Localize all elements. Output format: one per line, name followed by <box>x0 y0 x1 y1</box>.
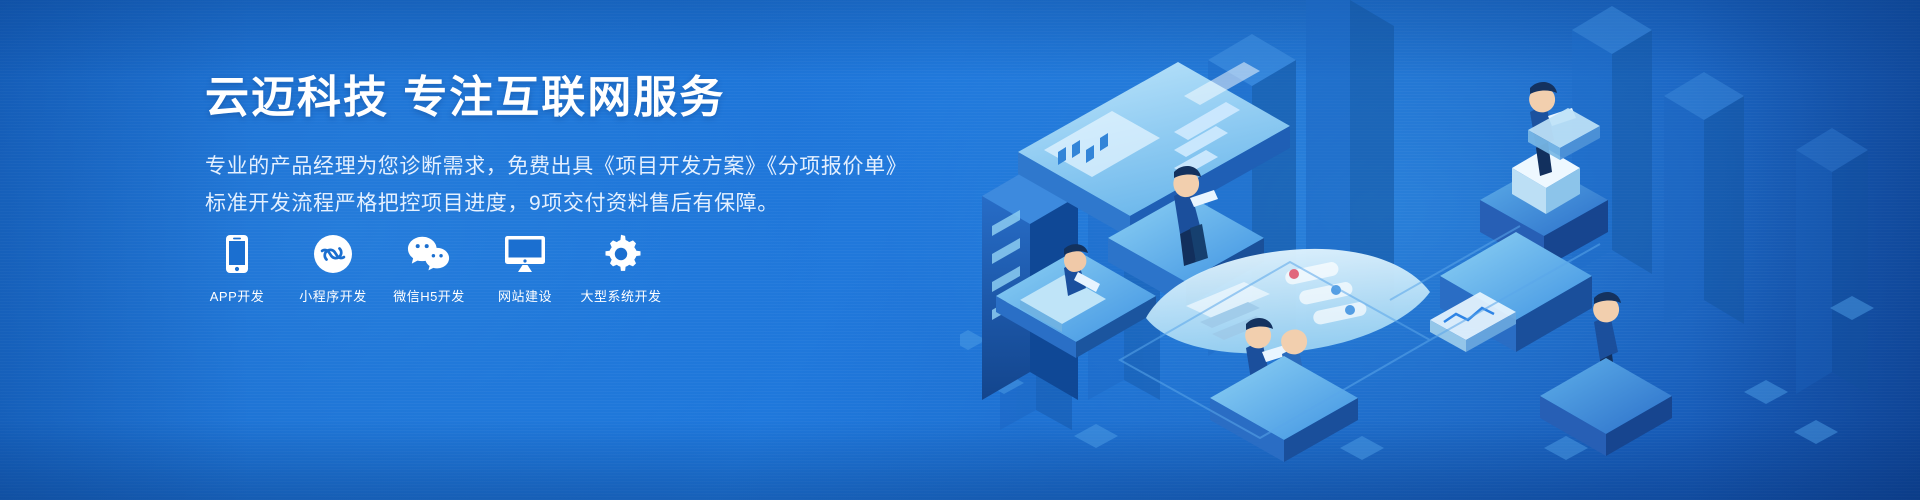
service-label-wechat: 微信H5开发 <box>393 286 465 305</box>
subtitle-line-1: 专业的产品经理为您诊断需求，免费出具《项目开发方案》《分项报价单》 <box>205 148 905 185</box>
banner-copy: 云迈科技 专注互联网服务 专业的产品经理为您诊断需求，免费出具《项目开发方案》《… <box>205 72 905 223</box>
service-label-app: APP开发 <box>210 286 265 305</box>
hero-banner: 云迈科技 专注互联网服务 专业的产品经理为您诊断需求，免费出具《项目开发方案》《… <box>0 0 1920 500</box>
page-title: 云迈科技 专注互联网服务 <box>205 72 905 124</box>
service-item-large-system[interactable]: 大型系统开发 <box>586 232 656 305</box>
gear-icon <box>599 232 643 276</box>
service-label-mini-program: 小程序开发 <box>299 286 367 305</box>
service-item-website[interactable]: 网站建设 <box>490 232 560 305</box>
isometric-illustration <box>960 0 1920 500</box>
desktop-monitor-icon <box>503 232 547 276</box>
service-item-app[interactable]: APP开发 <box>202 232 272 305</box>
service-item-wechat[interactable]: 微信H5开发 <box>394 232 464 305</box>
service-item-mini-program[interactable]: 小程序开发 <box>298 232 368 305</box>
wechat-icon <box>407 232 451 276</box>
service-list: APP开发 小程序开发 <box>202 232 656 305</box>
service-label-website: 网站建设 <box>498 286 552 305</box>
banner-subtitle: 专业的产品经理为您诊断需求，免费出具《项目开发方案》《分项报价单》 标准开发流程… <box>205 148 905 223</box>
subtitle-line-2: 标准开发流程严格把控项目进度，9项交付资料售后有保障。 <box>205 185 905 222</box>
service-label-large-system: 大型系统开发 <box>581 286 662 305</box>
mobile-phone-icon <box>215 232 259 276</box>
mini-program-icon <box>311 232 355 276</box>
